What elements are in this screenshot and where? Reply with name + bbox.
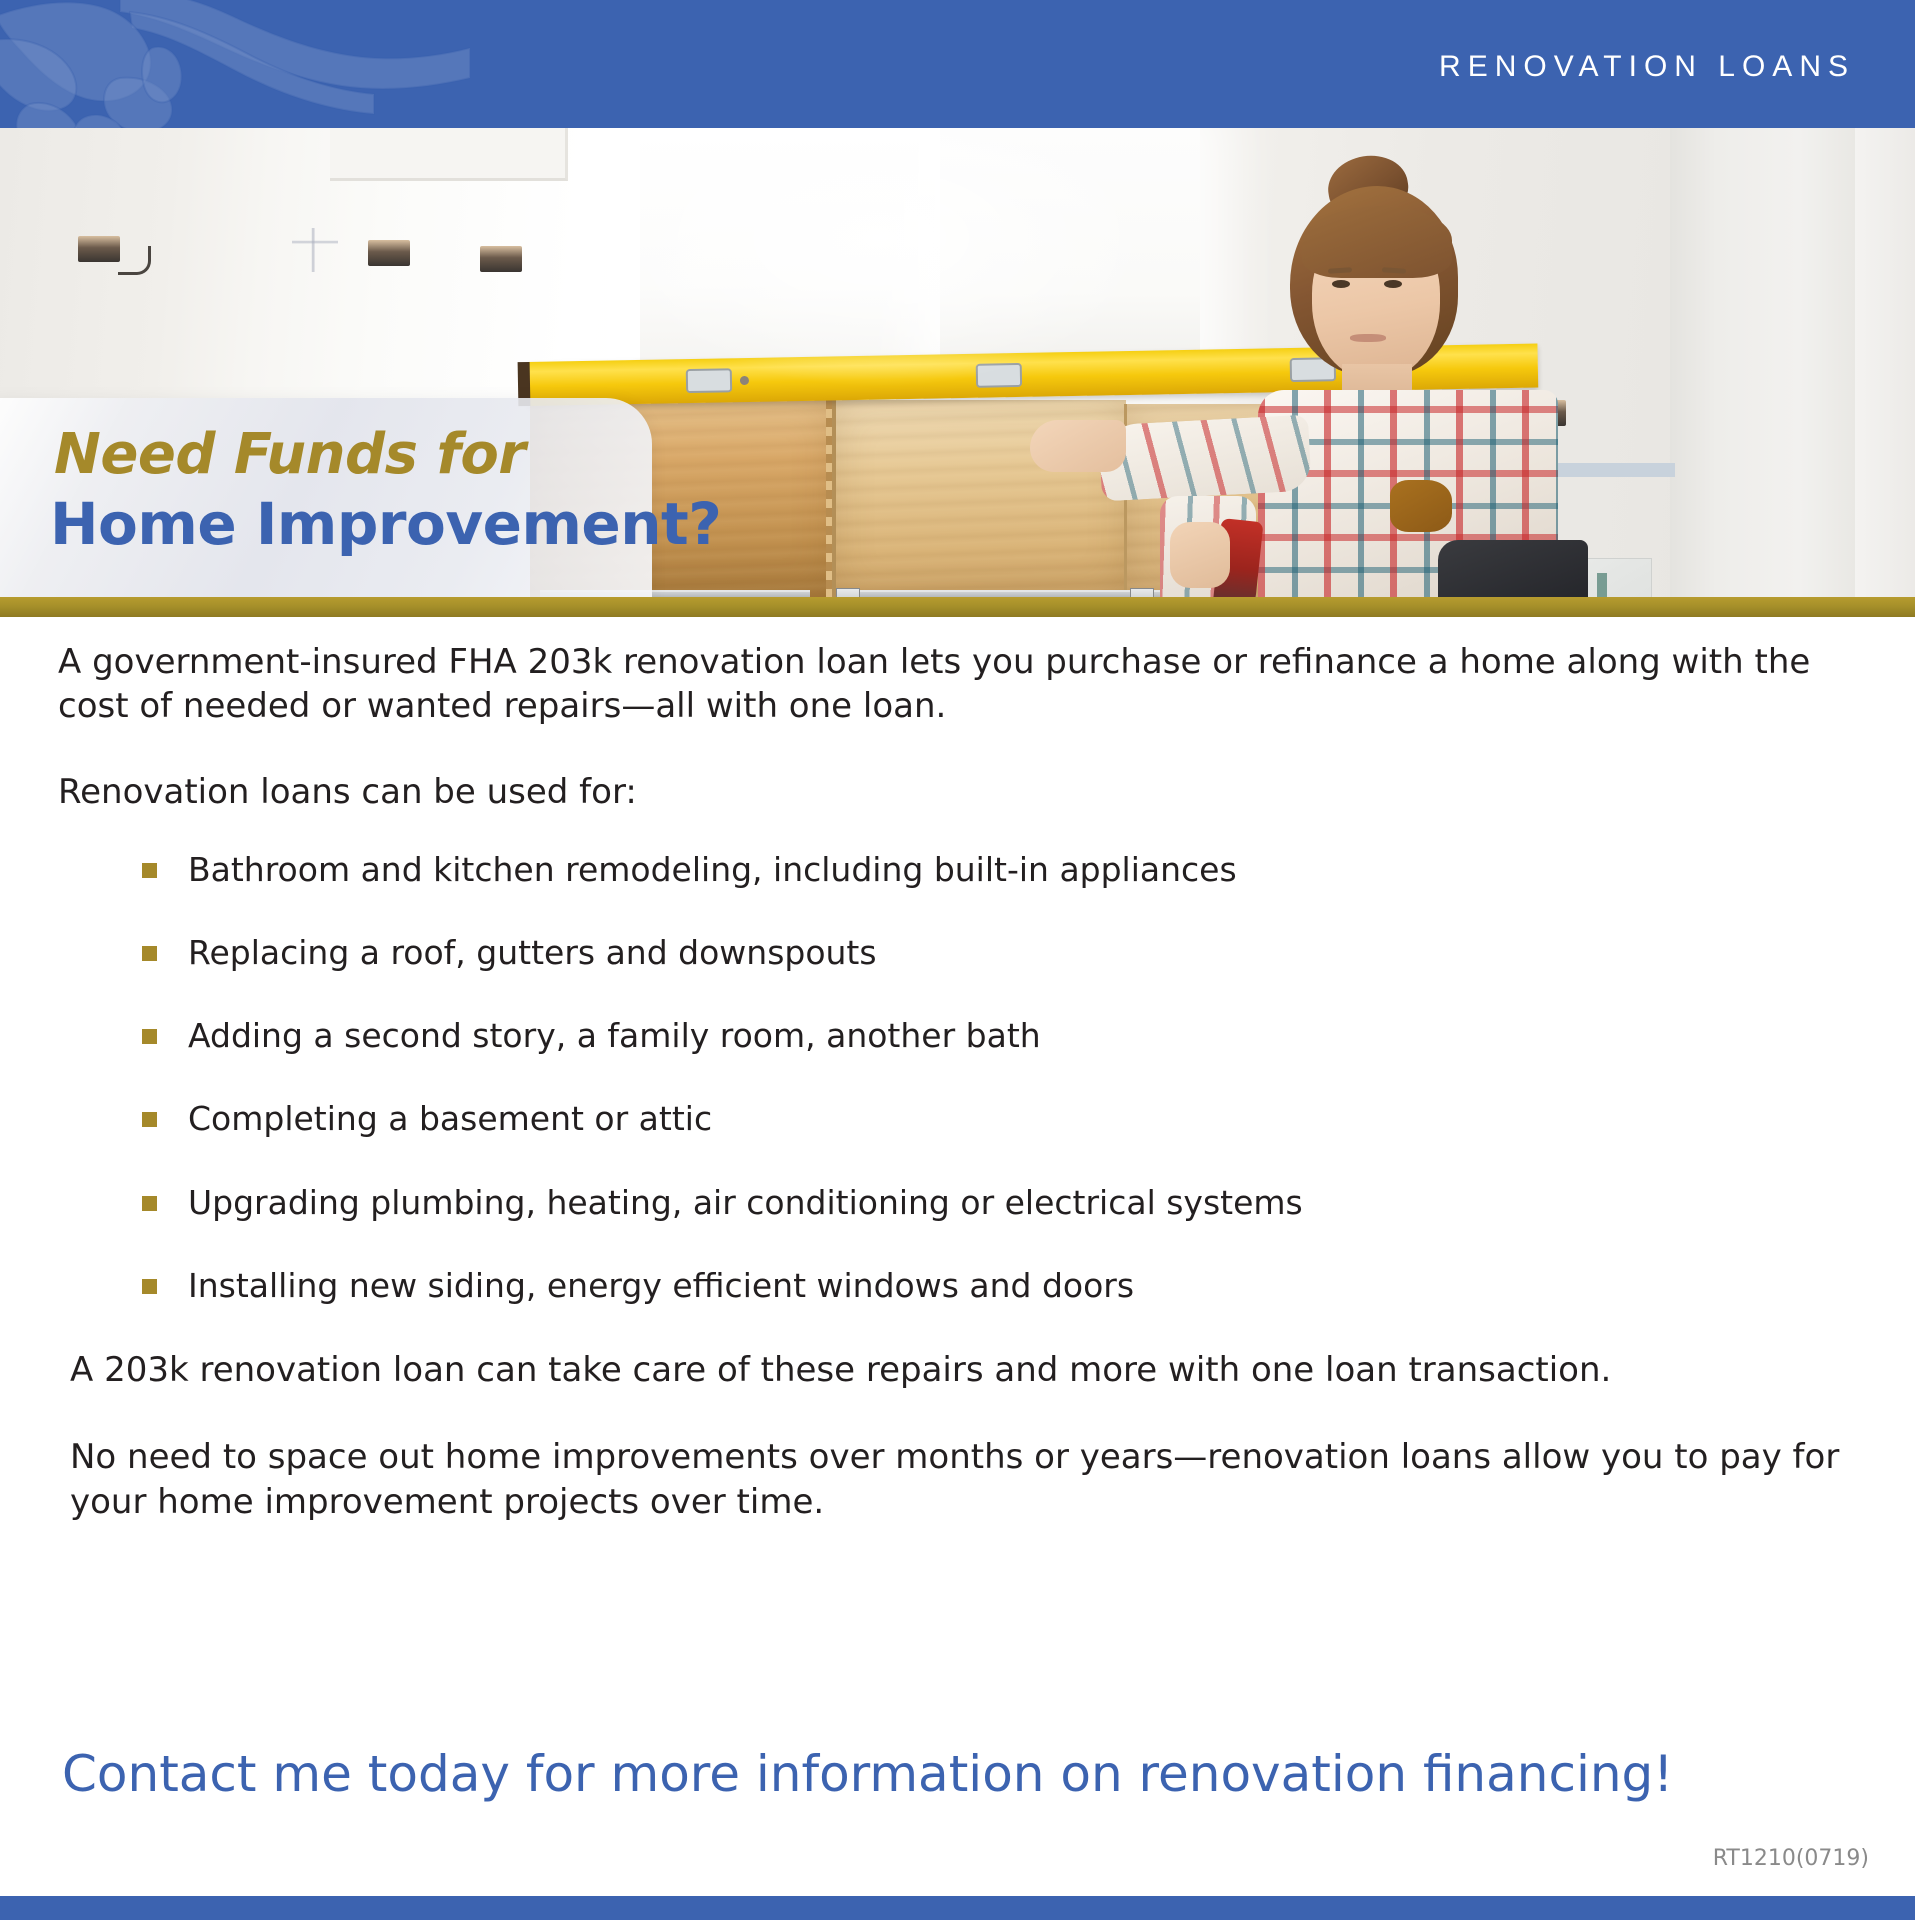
- square-bullet-icon: [142, 1279, 157, 1294]
- paragraph-spacer: [0, 728, 1915, 770]
- paragraph-spacer: [0, 1393, 1915, 1435]
- hero-wall-outlet: [368, 240, 410, 266]
- hero-wall-pillar-far: [1855, 128, 1915, 603]
- header-bar: RENOVATION LOANS: [0, 0, 1915, 128]
- hero-image: Need Funds for Home Improvement?: [0, 128, 1915, 603]
- person-mouth: [1350, 334, 1386, 342]
- gold-divider-bar: [0, 597, 1915, 617]
- renovation-uses-list: Bathroom and kitchen remodeling, includi…: [0, 849, 1915, 1307]
- flyer-page: RENOVATION LOANS: [0, 0, 1915, 1920]
- square-bullet-icon: [142, 1029, 157, 1044]
- list-item: Replacing a roof, gutters and downspouts: [142, 932, 1915, 973]
- list-item: Completing a basement or attic: [142, 1098, 1915, 1139]
- page-title: RENOVATION LOANS: [1439, 50, 1855, 84]
- list-lead-in-text: Renovation loans can be used for:: [58, 770, 1848, 814]
- person-hand: [1030, 420, 1126, 472]
- square-bullet-icon: [142, 946, 157, 961]
- person-hand: [1170, 522, 1230, 588]
- hero-upper-cabinet: [330, 128, 568, 181]
- square-bullet-icon: [142, 863, 157, 878]
- person-elbow-patch: [1390, 480, 1452, 532]
- list-item-label: Upgrading plumbing, heating, air conditi…: [188, 1183, 1303, 1222]
- person-upper-arm: [1098, 415, 1312, 502]
- hero-wall-pillar: [1670, 128, 1855, 603]
- person-pants: [1438, 540, 1588, 603]
- list-item-label: Installing new siding, energy efficient …: [188, 1266, 1134, 1305]
- list-item-label: Bathroom and kitchen remodeling, includi…: [188, 850, 1237, 889]
- hero-title-line-2: Home Improvement?: [50, 490, 721, 558]
- hero-wall-outlet: [78, 236, 120, 262]
- paragraph-spacer: [0, 1306, 1915, 1348]
- hero-level-screw: [740, 376, 749, 385]
- eagle-logo-watermark: [0, 0, 470, 128]
- hero-dangling-wire: [118, 246, 151, 275]
- hero-window-left: [640, 128, 940, 388]
- hero-title-line-1: Need Funds for: [54, 422, 525, 487]
- hero-person-contractor: [1040, 128, 1510, 603]
- list-item-label: Completing a basement or attic: [188, 1099, 712, 1138]
- footer-bar: [0, 1896, 1915, 1920]
- list-item-label: Replacing a roof, gutters and downspouts: [188, 933, 877, 972]
- form-code-label: RT1210(0719): [1713, 1846, 1869, 1871]
- list-item: Installing new siding, energy efficient …: [142, 1265, 1915, 1306]
- contact-call-to-action: Contact me today for more information on…: [62, 1745, 1673, 1803]
- square-bullet-icon: [142, 1112, 157, 1127]
- person-eye: [1384, 280, 1402, 288]
- list-item: Upgrading plumbing, heating, air conditi…: [142, 1182, 1915, 1223]
- closing-paragraph-2: No need to space out home improvements o…: [70, 1435, 1850, 1525]
- square-bullet-icon: [142, 1196, 157, 1211]
- hero-title-card: Need Funds for Home Improvement?: [0, 398, 652, 603]
- hero-level-vial: [976, 363, 1022, 388]
- hero-level-vial: [686, 368, 732, 393]
- list-item: Bathroom and kitchen remodeling, includi…: [142, 849, 1915, 890]
- list-item-label: Adding a second story, a family room, an…: [188, 1016, 1041, 1055]
- hero-wall-outlet: [480, 246, 522, 272]
- body-content: A government-insured FHA 203k renovation…: [0, 640, 1915, 1525]
- intro-paragraph: A government-insured FHA 203k renovation…: [58, 640, 1848, 728]
- person-hair-front: [1302, 206, 1452, 278]
- closing-paragraph-1: A 203k renovation loan can take care of …: [70, 1348, 1850, 1393]
- hero-background-fixture: [292, 228, 338, 272]
- person-eye: [1332, 280, 1350, 288]
- list-item: Adding a second story, a family room, an…: [142, 1015, 1915, 1056]
